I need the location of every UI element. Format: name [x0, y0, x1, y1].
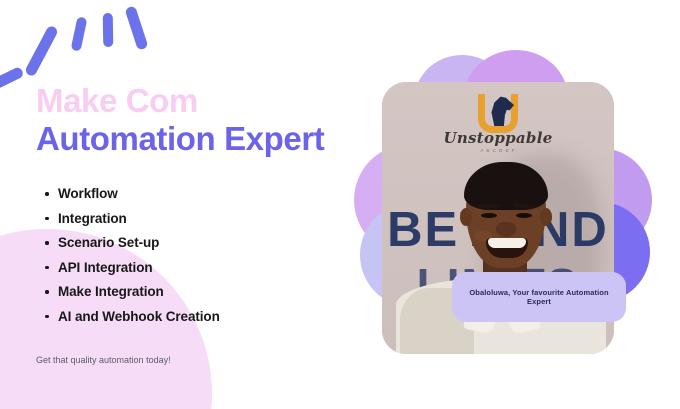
sparkle-decoration-group [0, 0, 170, 95]
list-item: API Integration [45, 260, 220, 275]
list-item: AI and Webhook Creation [45, 309, 220, 324]
tagline: Get that quality automation today! [36, 355, 171, 365]
sparkle-stroke-icon [0, 66, 25, 96]
headline-line-1: Make Com [36, 84, 324, 117]
headline: Make Com Automation Expert [36, 84, 324, 155]
list-item: Make Integration [45, 284, 220, 299]
list-item: Scenario Set-up [45, 235, 220, 250]
sparkle-stroke-icon [24, 25, 59, 78]
promo-slide: Make Com Automation Expert Workflow Inte… [0, 0, 680, 409]
headline-line-2: Automation Expert [36, 122, 324, 155]
services-list: Workflow Integration Scenario Set-up API… [45, 186, 220, 333]
sparkle-stroke-icon [103, 13, 114, 47]
caption-badge: Obaloluwa, Your favourite Automation Exp… [452, 272, 626, 322]
sparkle-stroke-icon [124, 5, 148, 50]
list-item: Workflow [45, 186, 220, 201]
list-item: Integration [45, 211, 220, 226]
caption-badge-label: Obaloluwa, Your favourite Automation Exp… [452, 288, 626, 306]
sparkle-stroke-icon [71, 16, 88, 51]
